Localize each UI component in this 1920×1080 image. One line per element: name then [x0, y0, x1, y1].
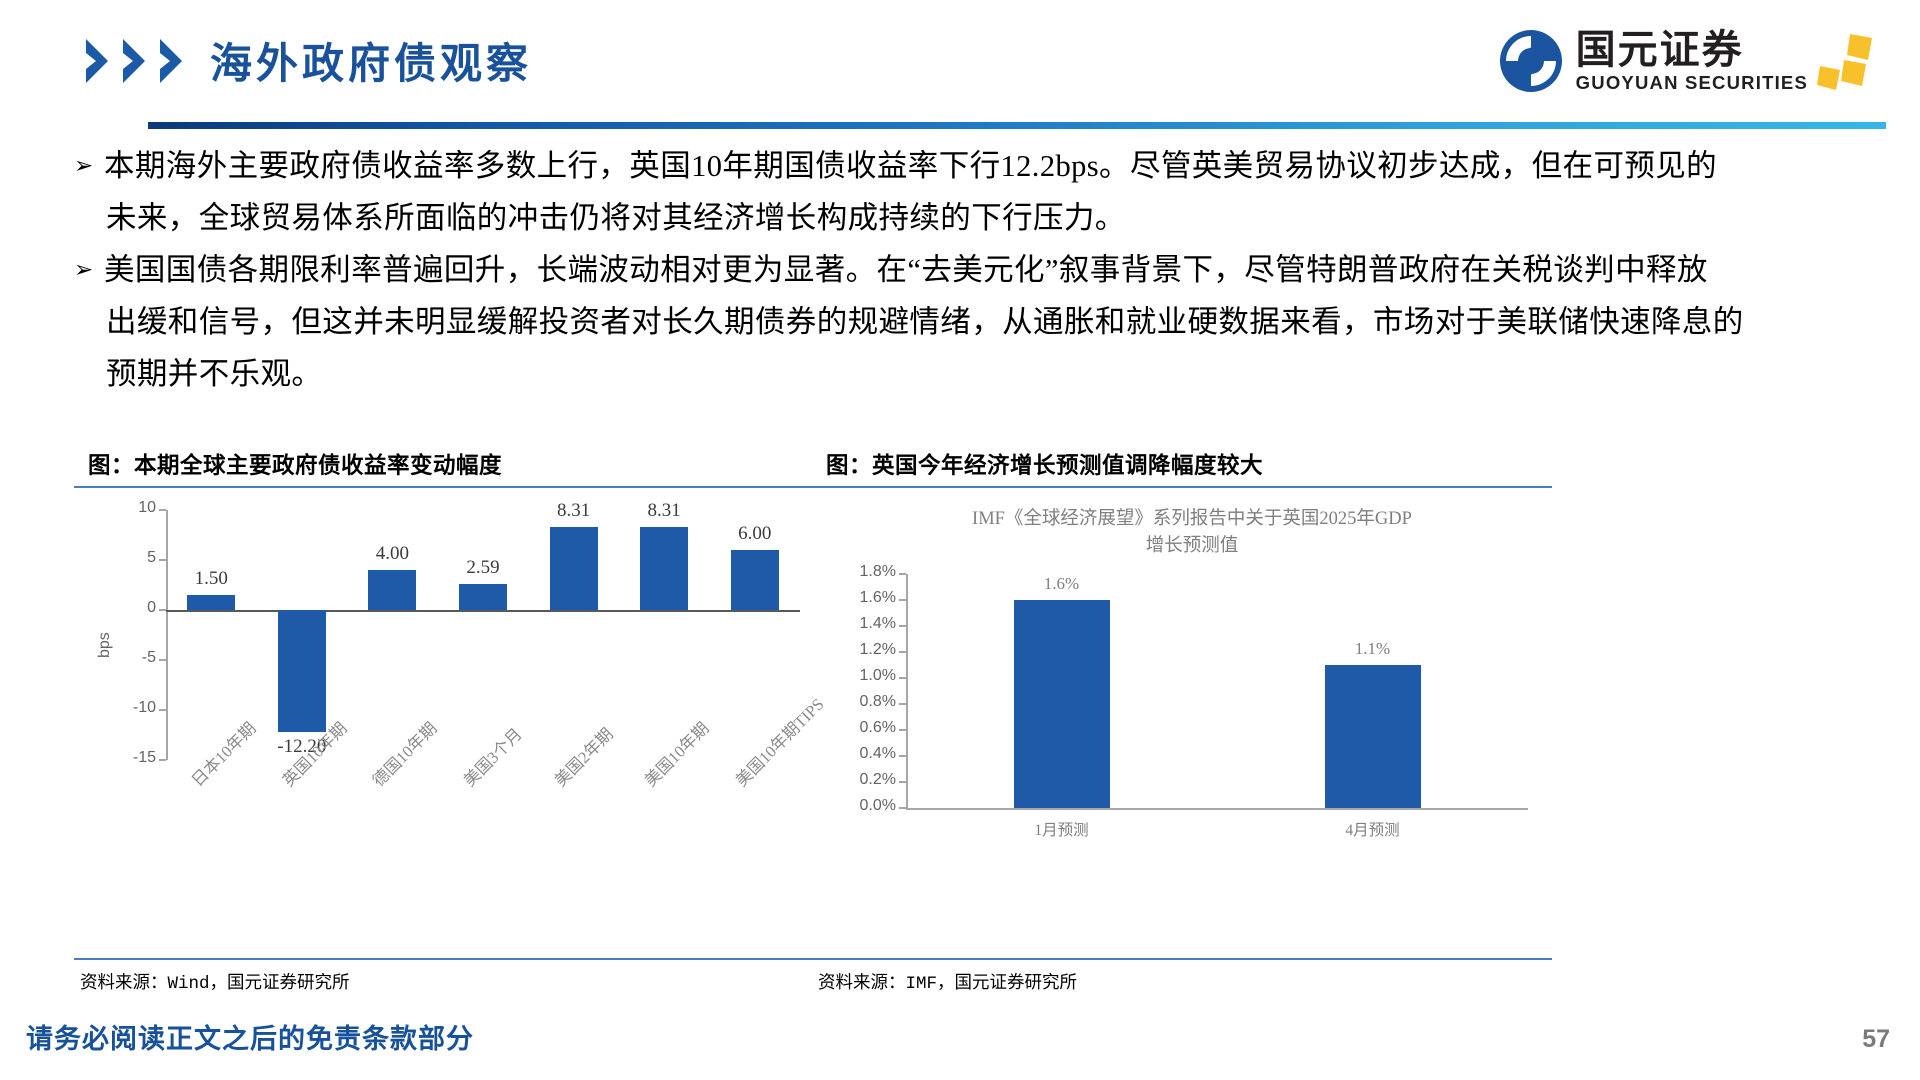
y-axis-tick-label: 0.6% [844, 719, 896, 737]
chart-global-govt-bond-yield-change: 1050-5-10-15bps1.50日本10年期-12.20英国10年期4.0… [74, 498, 814, 958]
bullet-arrow-icon: ➢ [70, 140, 104, 192]
y-axis-tick [899, 625, 906, 627]
company-logo: 国元证券 GUOYUAN SECURITIES [1498, 26, 1876, 96]
x-axis-category-label: 美国3个月 [457, 721, 526, 790]
bar [731, 550, 779, 610]
y-axis-tick [159, 609, 166, 611]
bar [1014, 600, 1110, 808]
x-axis-category-label: 1月预测 [992, 818, 1132, 840]
header-gradient-rule [148, 122, 1886, 129]
page-header: 海外政府债观察 国元证券 GUOYUAN SECURITIES [0, 0, 1920, 118]
panel-heading: 图：英国今年经济增长预测值调降幅度较大 [812, 448, 1552, 480]
x-axis-category-label: 美国2年期 [548, 721, 617, 790]
y-axis-tick [899, 703, 906, 705]
y-axis-tick-label: -10 [104, 699, 156, 717]
bar [459, 584, 507, 610]
panel-heading: 图：本期全球主要政府债收益率变动幅度 [74, 448, 814, 480]
y-axis-tick-label: 1.2% [844, 641, 896, 659]
gold-sparkle-icon [1814, 30, 1876, 92]
bullet-paragraph-2: ➢ 美国国债各期限利率普遍回升，长端波动相对更为显著。在“去美元化”叙事背景下，… [70, 244, 1860, 400]
body-text-block: ➢ 本期海外主要政府债收益率多数上行，英国10年期国债收益率下行12.2bps。… [70, 140, 1860, 400]
paragraph-line: 本期海外主要政府债收益率多数上行，英国10年期国债收益率下行12.2bps。尽管… [104, 140, 1860, 192]
y-axis-tick-label: -15 [104, 749, 156, 767]
y-axis-tick [159, 759, 166, 761]
panel-heading-rule [74, 486, 814, 488]
page-title: 海外政府债观察 [210, 30, 532, 91]
y-axis-tick [899, 807, 906, 809]
bar [550, 527, 598, 610]
y-axis-tick [899, 677, 906, 679]
y-axis-tick-label: 1.4% [844, 615, 896, 633]
y-axis-tick [899, 755, 906, 757]
logo-company-name-cn: 国元证券 [1576, 29, 1744, 71]
y-axis-tick-label: 1.8% [844, 563, 896, 581]
bar-value-label: 1.6% [1002, 574, 1122, 594]
x-axis-line [906, 808, 1528, 810]
chevron-right-icon [84, 38, 118, 84]
chart-title: IMF《全球经济展望》系列报告中关于英国2025年GDP增长预测值 [932, 506, 1452, 560]
chart-imf-uk-2025-gdp-forecast: IMF《全球经济展望》系列报告中关于英国2025年GDP增长预测值 1.8%1.… [812, 498, 1552, 958]
y-axis-line [906, 574, 908, 808]
y-axis-tick-label: 0.0% [844, 797, 896, 815]
bar [1325, 665, 1421, 808]
y-axis-tick [159, 559, 166, 561]
y-axis-line [166, 510, 168, 760]
y-axis-tick [159, 509, 166, 511]
y-axis-tick [899, 599, 906, 601]
y-axis-tick [899, 781, 906, 783]
y-axis-tick [899, 651, 906, 653]
paragraph-line: 预期并不乐观。 [104, 348, 1860, 400]
bullet-arrow-icon: ➢ [70, 244, 104, 296]
chevron-right-icon [121, 38, 155, 84]
x-axis-zero-line [166, 610, 800, 612]
x-axis-category-label: 4月预测 [1303, 818, 1443, 840]
y-axis-title: bps [96, 632, 114, 658]
bar [187, 595, 235, 610]
paragraph-line: 未来，全球贸易体系所面临的冲击仍将对其经济增长构成持续的下行压力。 [104, 192, 1860, 244]
x-axis-category-label: 美国10年期 [638, 716, 713, 791]
y-axis-tick-label: 10 [104, 499, 156, 517]
y-axis-tick-label: 0 [104, 599, 156, 617]
y-axis-tick [899, 573, 906, 575]
y-axis-tick-label: 0.4% [844, 745, 896, 763]
bar-value-label: 1.1% [1313, 639, 1433, 659]
chart-panel-right: 图：英国今年经济增长预测值调降幅度较大 IMF《全球经济展望》系列报告中关于英国… [812, 448, 1552, 994]
y-axis-tick [159, 709, 166, 711]
chart-panel-left: 图：本期全球主要政府债收益率变动幅度 1050-5-10-15bps1.50日本… [74, 448, 814, 994]
page-number: 57 [1862, 1025, 1890, 1054]
bar [278, 610, 326, 732]
y-axis-tick-label: 0.8% [844, 693, 896, 711]
chart-title-line: IMF《全球经济展望》系列报告中关于英国2025年GDP [932, 506, 1452, 533]
bar [640, 527, 688, 610]
panel-heading-rule [812, 486, 1552, 488]
y-axis-tick-label: 1.0% [844, 667, 896, 685]
chevron-arrows-group [84, 38, 194, 84]
x-axis-category-label: 德国10年期 [366, 716, 441, 791]
y-axis-tick-label: 1.6% [844, 589, 896, 607]
bar-value-label: 2.59 [428, 557, 538, 579]
logo-company-name-en: GUOYUAN SECURITIES [1576, 72, 1808, 94]
bullet-paragraph-1: ➢ 本期海外主要政府债收益率多数上行，英国10年期国债收益率下行12.2bps。… [70, 140, 1860, 244]
guoyuan-circle-logo-icon [1498, 28, 1564, 94]
panel-source: 资料来源：IMF，国元证券研究所 [812, 960, 1552, 994]
chevron-right-icon [158, 38, 192, 84]
bar-value-label: 6.00 [700, 523, 810, 545]
panel-source: 资料来源：Wind，国元证券研究所 [74, 960, 814, 994]
y-axis-tick [899, 729, 906, 731]
y-axis-tick [159, 659, 166, 661]
y-axis-tick-label: 5 [104, 549, 156, 567]
bar [368, 570, 416, 610]
paragraph-line: 美国国债各期限利率普遍回升，长端波动相对更为显著。在“去美元化”叙事背景下，尽管… [104, 244, 1860, 296]
disclaimer-text: 请务必阅读正文之后的免责条款部分 [26, 1017, 474, 1056]
paragraph-line: 出缓和信号，但这并未明显缓解投资者对长久期债券的规避情绪，从通胀和就业硬数据来看… [104, 296, 1860, 348]
y-axis-tick-label: 0.2% [844, 771, 896, 789]
bar-value-label: 8.31 [609, 500, 719, 522]
chart-title-line: 增长预测值 [932, 533, 1452, 560]
bar-value-label: 1.50 [156, 568, 266, 590]
